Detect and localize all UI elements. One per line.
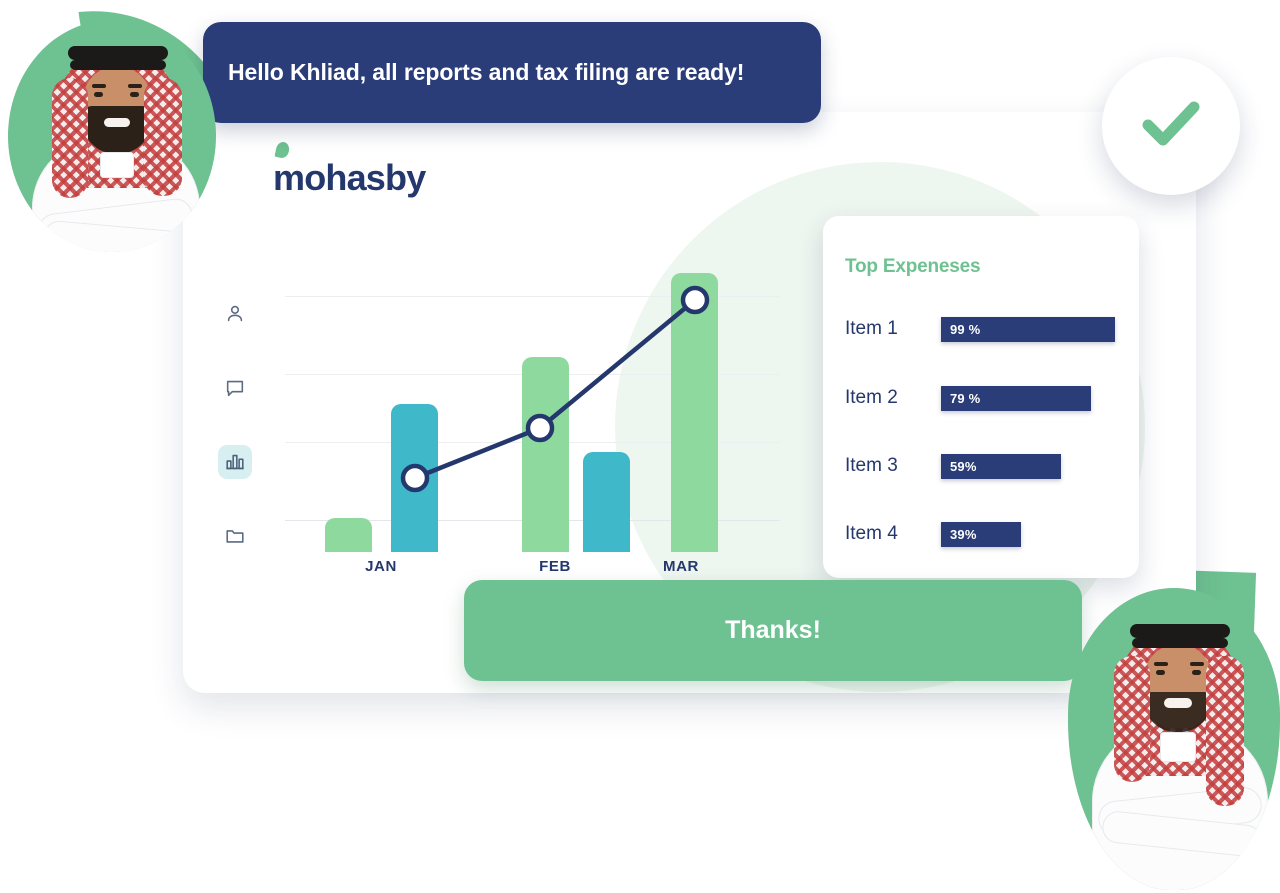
trend-line bbox=[285, 252, 780, 552]
chat-icon bbox=[224, 377, 246, 399]
expense-label: Item 1 bbox=[845, 318, 941, 340]
trend-point-jan bbox=[403, 466, 427, 490]
thanks-label: Thanks! bbox=[725, 616, 821, 645]
expense-label: Item 3 bbox=[845, 455, 941, 477]
expense-label: Item 4 bbox=[845, 523, 941, 545]
axis-label-jan: JAN bbox=[365, 558, 397, 575]
message-bubble: Hello Khliad, all reports and tax filing… bbox=[203, 22, 821, 123]
app-logo: mohasby bbox=[273, 160, 425, 196]
message-text: Hello Khliad, all reports and tax filing… bbox=[203, 59, 744, 86]
axis-label-feb: FEB bbox=[539, 558, 571, 575]
top-expenses-panel: Top Expeneses Item 1 99 % Item 2 79 % It… bbox=[823, 216, 1139, 578]
sidebar-item-files[interactable] bbox=[218, 519, 252, 553]
user-icon bbox=[224, 303, 246, 325]
expense-row[interactable]: Item 2 79 % bbox=[845, 383, 1125, 413]
expense-row[interactable]: Item 3 59% bbox=[845, 451, 1125, 481]
expense-row[interactable]: Item 4 39% bbox=[845, 519, 1125, 549]
logo-text: mohasby bbox=[273, 160, 425, 196]
trend-point-mar bbox=[683, 288, 707, 312]
expense-value: 99 % bbox=[941, 322, 980, 337]
axis-label-mar: MAR bbox=[663, 558, 699, 575]
success-badge bbox=[1102, 57, 1240, 195]
expense-value: 79 % bbox=[941, 391, 980, 406]
monthly-bar-chart: JAN FEB MAR bbox=[285, 252, 780, 552]
sidebar-nav bbox=[209, 297, 261, 553]
poster-stage: mohasby bbox=[0, 0, 1280, 893]
sidebar-item-analytics[interactable] bbox=[218, 445, 252, 479]
expense-progress-bar: 59% bbox=[941, 454, 1061, 479]
sidebar-item-messages[interactable] bbox=[218, 371, 252, 405]
folder-icon bbox=[224, 525, 246, 547]
avatar bbox=[8, 20, 216, 252]
expense-label: Item 2 bbox=[845, 387, 941, 409]
expense-progress-bar: 39% bbox=[941, 522, 1021, 547]
avatar bbox=[1068, 588, 1280, 890]
expense-progress-bar: 99 % bbox=[941, 317, 1115, 342]
expense-value: 59% bbox=[941, 459, 977, 474]
panel-title: Top Expeneses bbox=[845, 256, 980, 278]
expense-value: 39% bbox=[941, 527, 977, 542]
thanks-button[interactable]: Thanks! bbox=[464, 580, 1082, 681]
expense-progress-bar: 79 % bbox=[941, 386, 1091, 411]
check-circle-icon bbox=[1132, 85, 1210, 168]
trend-point-feb bbox=[528, 416, 552, 440]
expense-row[interactable]: Item 1 99 % bbox=[845, 314, 1125, 344]
sidebar-item-profile[interactable] bbox=[218, 297, 252, 331]
bar-chart-icon bbox=[224, 451, 246, 473]
